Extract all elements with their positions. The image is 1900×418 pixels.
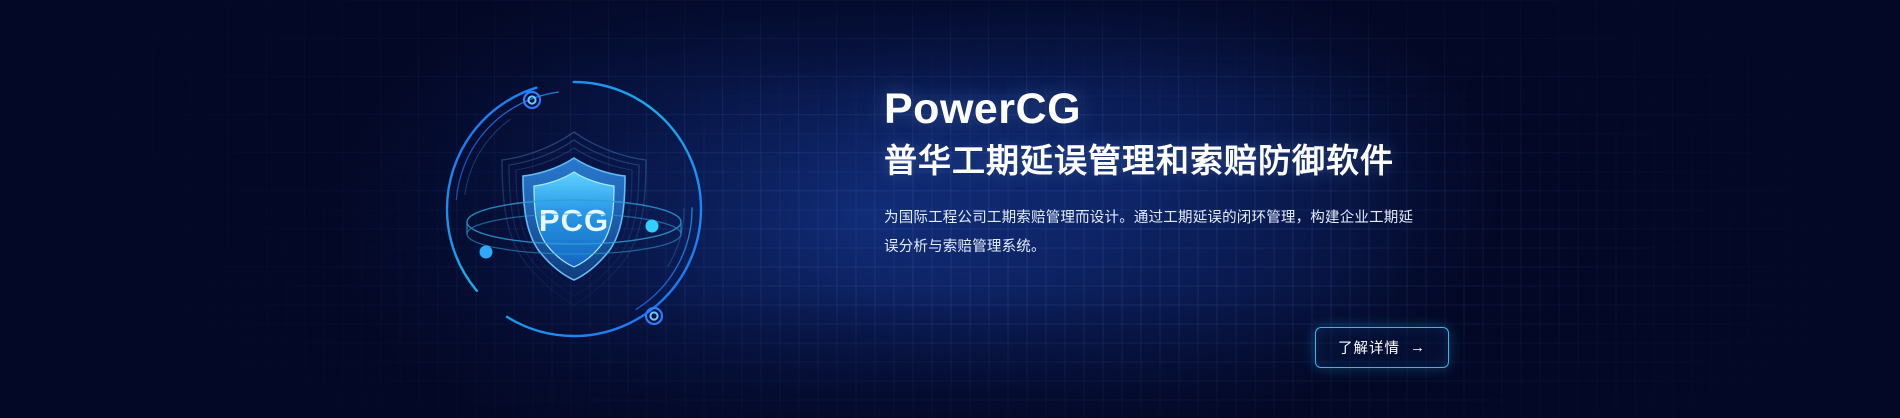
- page-title: 普华工期延误管理和索赔防御软件: [884, 140, 1504, 181]
- shield-logo: PCG: [424, 54, 724, 364]
- arrow-right-icon: →: [1410, 340, 1426, 355]
- hero-banner: PCG PowerCG 普华工期延误管理和索赔防御软件 为国际工程公司工期索赔管…: [0, 0, 1900, 418]
- brand-title: PowerCG: [884, 86, 1504, 132]
- learn-more-button[interactable]: 了解详情 →: [1315, 327, 1449, 368]
- banner-description: 为国际工程公司工期索赔管理而设计。通过工期延误的闭环管理，构建企业工期延误分析与…: [884, 204, 1424, 262]
- banner-content: PowerCG 普华工期延误管理和索赔防御软件 为国际工程公司工期索赔管理而设计…: [884, 86, 1504, 262]
- learn-more-label: 了解详情: [1338, 337, 1400, 358]
- cta-container: 了解详情 →: [1315, 327, 1449, 368]
- logo-mark-text: PCG: [539, 203, 609, 238]
